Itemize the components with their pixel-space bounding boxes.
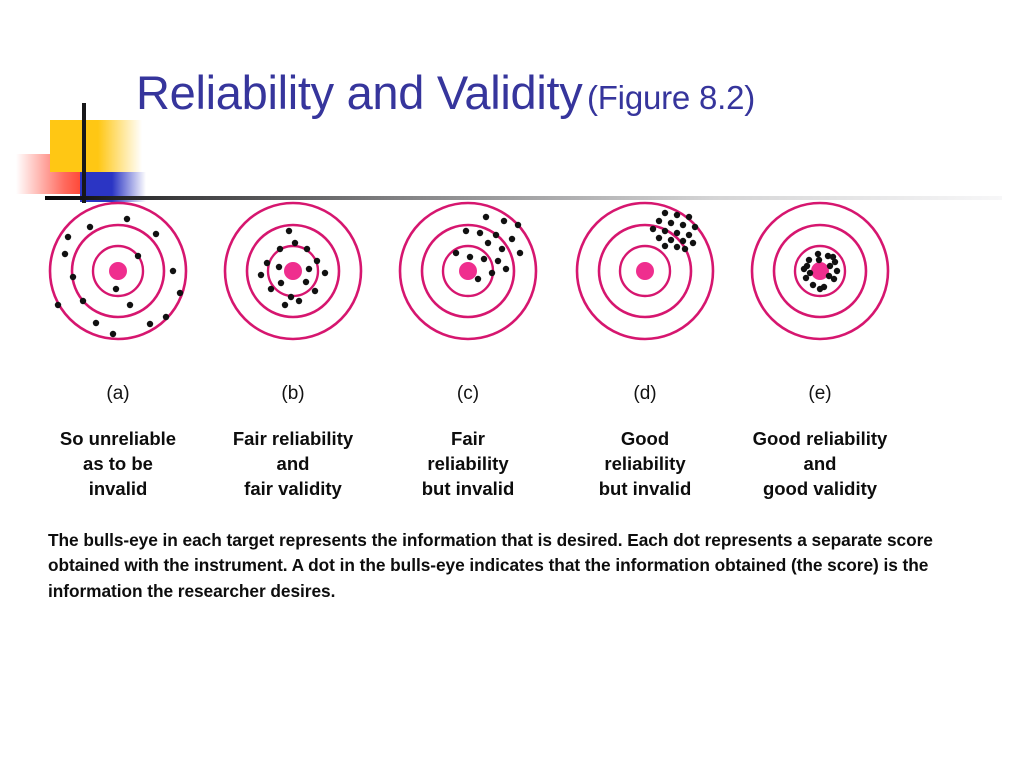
caption-line: but invalid [553, 477, 737, 502]
score-dot [662, 243, 668, 249]
panel-letter-b: (b) [217, 383, 369, 405]
caption-line: Good reliability [728, 427, 912, 452]
score-dot [276, 264, 282, 270]
score-dot [268, 286, 274, 292]
corner-decoration [14, 103, 146, 203]
target-panel-c [392, 199, 544, 355]
score-dot [475, 276, 481, 282]
score-dot [810, 282, 816, 288]
score-dot [477, 230, 483, 236]
score-dot [509, 236, 515, 242]
score-dot [662, 228, 668, 234]
score-dot [674, 230, 680, 236]
score-dot [692, 224, 698, 230]
score-dot [495, 258, 501, 264]
score-dot [170, 268, 176, 274]
score-dot [93, 320, 99, 326]
score-dot [499, 246, 505, 252]
score-dot [517, 250, 523, 256]
target-panel-b [217, 199, 369, 355]
panel-caption-d: Goodreliabilitybut invalid [553, 427, 737, 501]
bullseye [284, 262, 302, 280]
score-dot [147, 321, 153, 327]
score-dot [815, 251, 821, 257]
score-dot [515, 222, 521, 228]
score-dot [453, 250, 459, 256]
score-dot [163, 314, 169, 320]
score-dot [682, 246, 688, 252]
score-dot [650, 226, 656, 232]
score-dot [322, 270, 328, 276]
panel-letter-e: (e) [744, 383, 896, 405]
score-dot [110, 331, 116, 337]
score-dot [806, 257, 812, 263]
score-dot [135, 253, 141, 259]
score-dot [674, 244, 680, 250]
caption-line: invalid [26, 477, 210, 502]
score-dot [493, 232, 499, 238]
bullseye [109, 262, 127, 280]
score-dot [258, 272, 264, 278]
page-title-figure-ref: (Figure 8.2) [587, 79, 755, 116]
yellow-square [50, 120, 98, 172]
page-title: Reliability and Validity (Figure 8.2) [136, 68, 936, 118]
caption-line: but invalid [376, 477, 560, 502]
panel-caption-a: So unreliableas to beinvalid [26, 427, 210, 501]
score-dot [312, 288, 318, 294]
score-dot [463, 228, 469, 234]
score-dot [503, 266, 509, 272]
score-dot [55, 302, 61, 308]
score-dot [124, 216, 130, 222]
score-dot [485, 240, 491, 246]
score-dot [286, 228, 292, 234]
targets-row [0, 199, 1024, 357]
target-panel-a [42, 199, 194, 355]
bullseye [636, 262, 654, 280]
caption-line: and [201, 452, 385, 477]
score-dot [817, 286, 823, 292]
panel-caption-c: Fairreliabilitybut invalid [376, 427, 560, 501]
panel-letter-d: (d) [569, 383, 721, 405]
score-dot [80, 298, 86, 304]
score-dot [834, 268, 840, 274]
score-dot [314, 258, 320, 264]
score-dot [288, 294, 294, 300]
yellow-fade-block [98, 120, 142, 172]
score-dot [804, 263, 810, 269]
score-dot [686, 232, 692, 238]
score-dot [296, 298, 302, 304]
score-dot [680, 222, 686, 228]
score-dot [127, 302, 133, 308]
panel-caption-e: Good reliabilityandgood validity [728, 427, 912, 501]
score-dot [277, 246, 283, 252]
score-dot [803, 275, 809, 281]
caption-line: and [728, 452, 912, 477]
score-dot [483, 214, 489, 220]
score-dot [674, 212, 680, 218]
caption-line: reliability [376, 452, 560, 477]
score-dot [827, 263, 833, 269]
panel-captions-row: So unreliableas to beinvalidFair reliabi… [0, 427, 1024, 507]
caption-line: Fair reliability [201, 427, 385, 452]
panel-caption-b: Fair reliabilityandfair validity [201, 427, 385, 501]
score-dot [501, 218, 507, 224]
score-dot [87, 224, 93, 230]
caption-line: fair validity [201, 477, 385, 502]
score-dot [816, 257, 822, 263]
score-dot [686, 214, 692, 220]
score-dot [304, 246, 310, 252]
score-dot [481, 256, 487, 262]
score-dot [113, 286, 119, 292]
score-dot [306, 266, 312, 272]
figure-note: The bulls-eye in each target represents … [48, 528, 998, 604]
page-title-main: Reliability and Validity [136, 66, 582, 119]
score-dot [278, 280, 284, 286]
score-dot [830, 254, 836, 260]
score-dot [264, 260, 270, 266]
score-dot [690, 240, 696, 246]
caption-line: good validity [728, 477, 912, 502]
score-dot [656, 218, 662, 224]
panel-letters-row: (a)(b)(c)(d)(e) [0, 383, 1024, 409]
caption-line: as to be [26, 452, 210, 477]
score-dot [65, 234, 71, 240]
bullseye [459, 262, 477, 280]
score-dot [668, 237, 674, 243]
caption-line: Good [553, 427, 737, 452]
score-dot [62, 251, 68, 257]
score-dot [153, 231, 159, 237]
vertical-rule [82, 103, 86, 203]
score-dot [282, 302, 288, 308]
panel-letter-a: (a) [42, 383, 194, 405]
caption-line: Fair [376, 427, 560, 452]
caption-line: reliability [553, 452, 737, 477]
score-dot [656, 235, 662, 241]
target-panel-e [744, 199, 896, 355]
target-panel-d [569, 199, 721, 355]
score-dot [489, 270, 495, 276]
score-dot [668, 220, 674, 226]
score-dot [807, 270, 813, 276]
score-dot [467, 254, 473, 260]
panel-letter-c: (c) [392, 383, 544, 405]
score-dot [177, 290, 183, 296]
score-dot [826, 273, 832, 279]
score-dot [680, 238, 686, 244]
caption-line: So unreliable [26, 427, 210, 452]
score-dot [292, 240, 298, 246]
score-dot [662, 210, 668, 216]
score-dot [303, 279, 309, 285]
score-dot [70, 274, 76, 280]
